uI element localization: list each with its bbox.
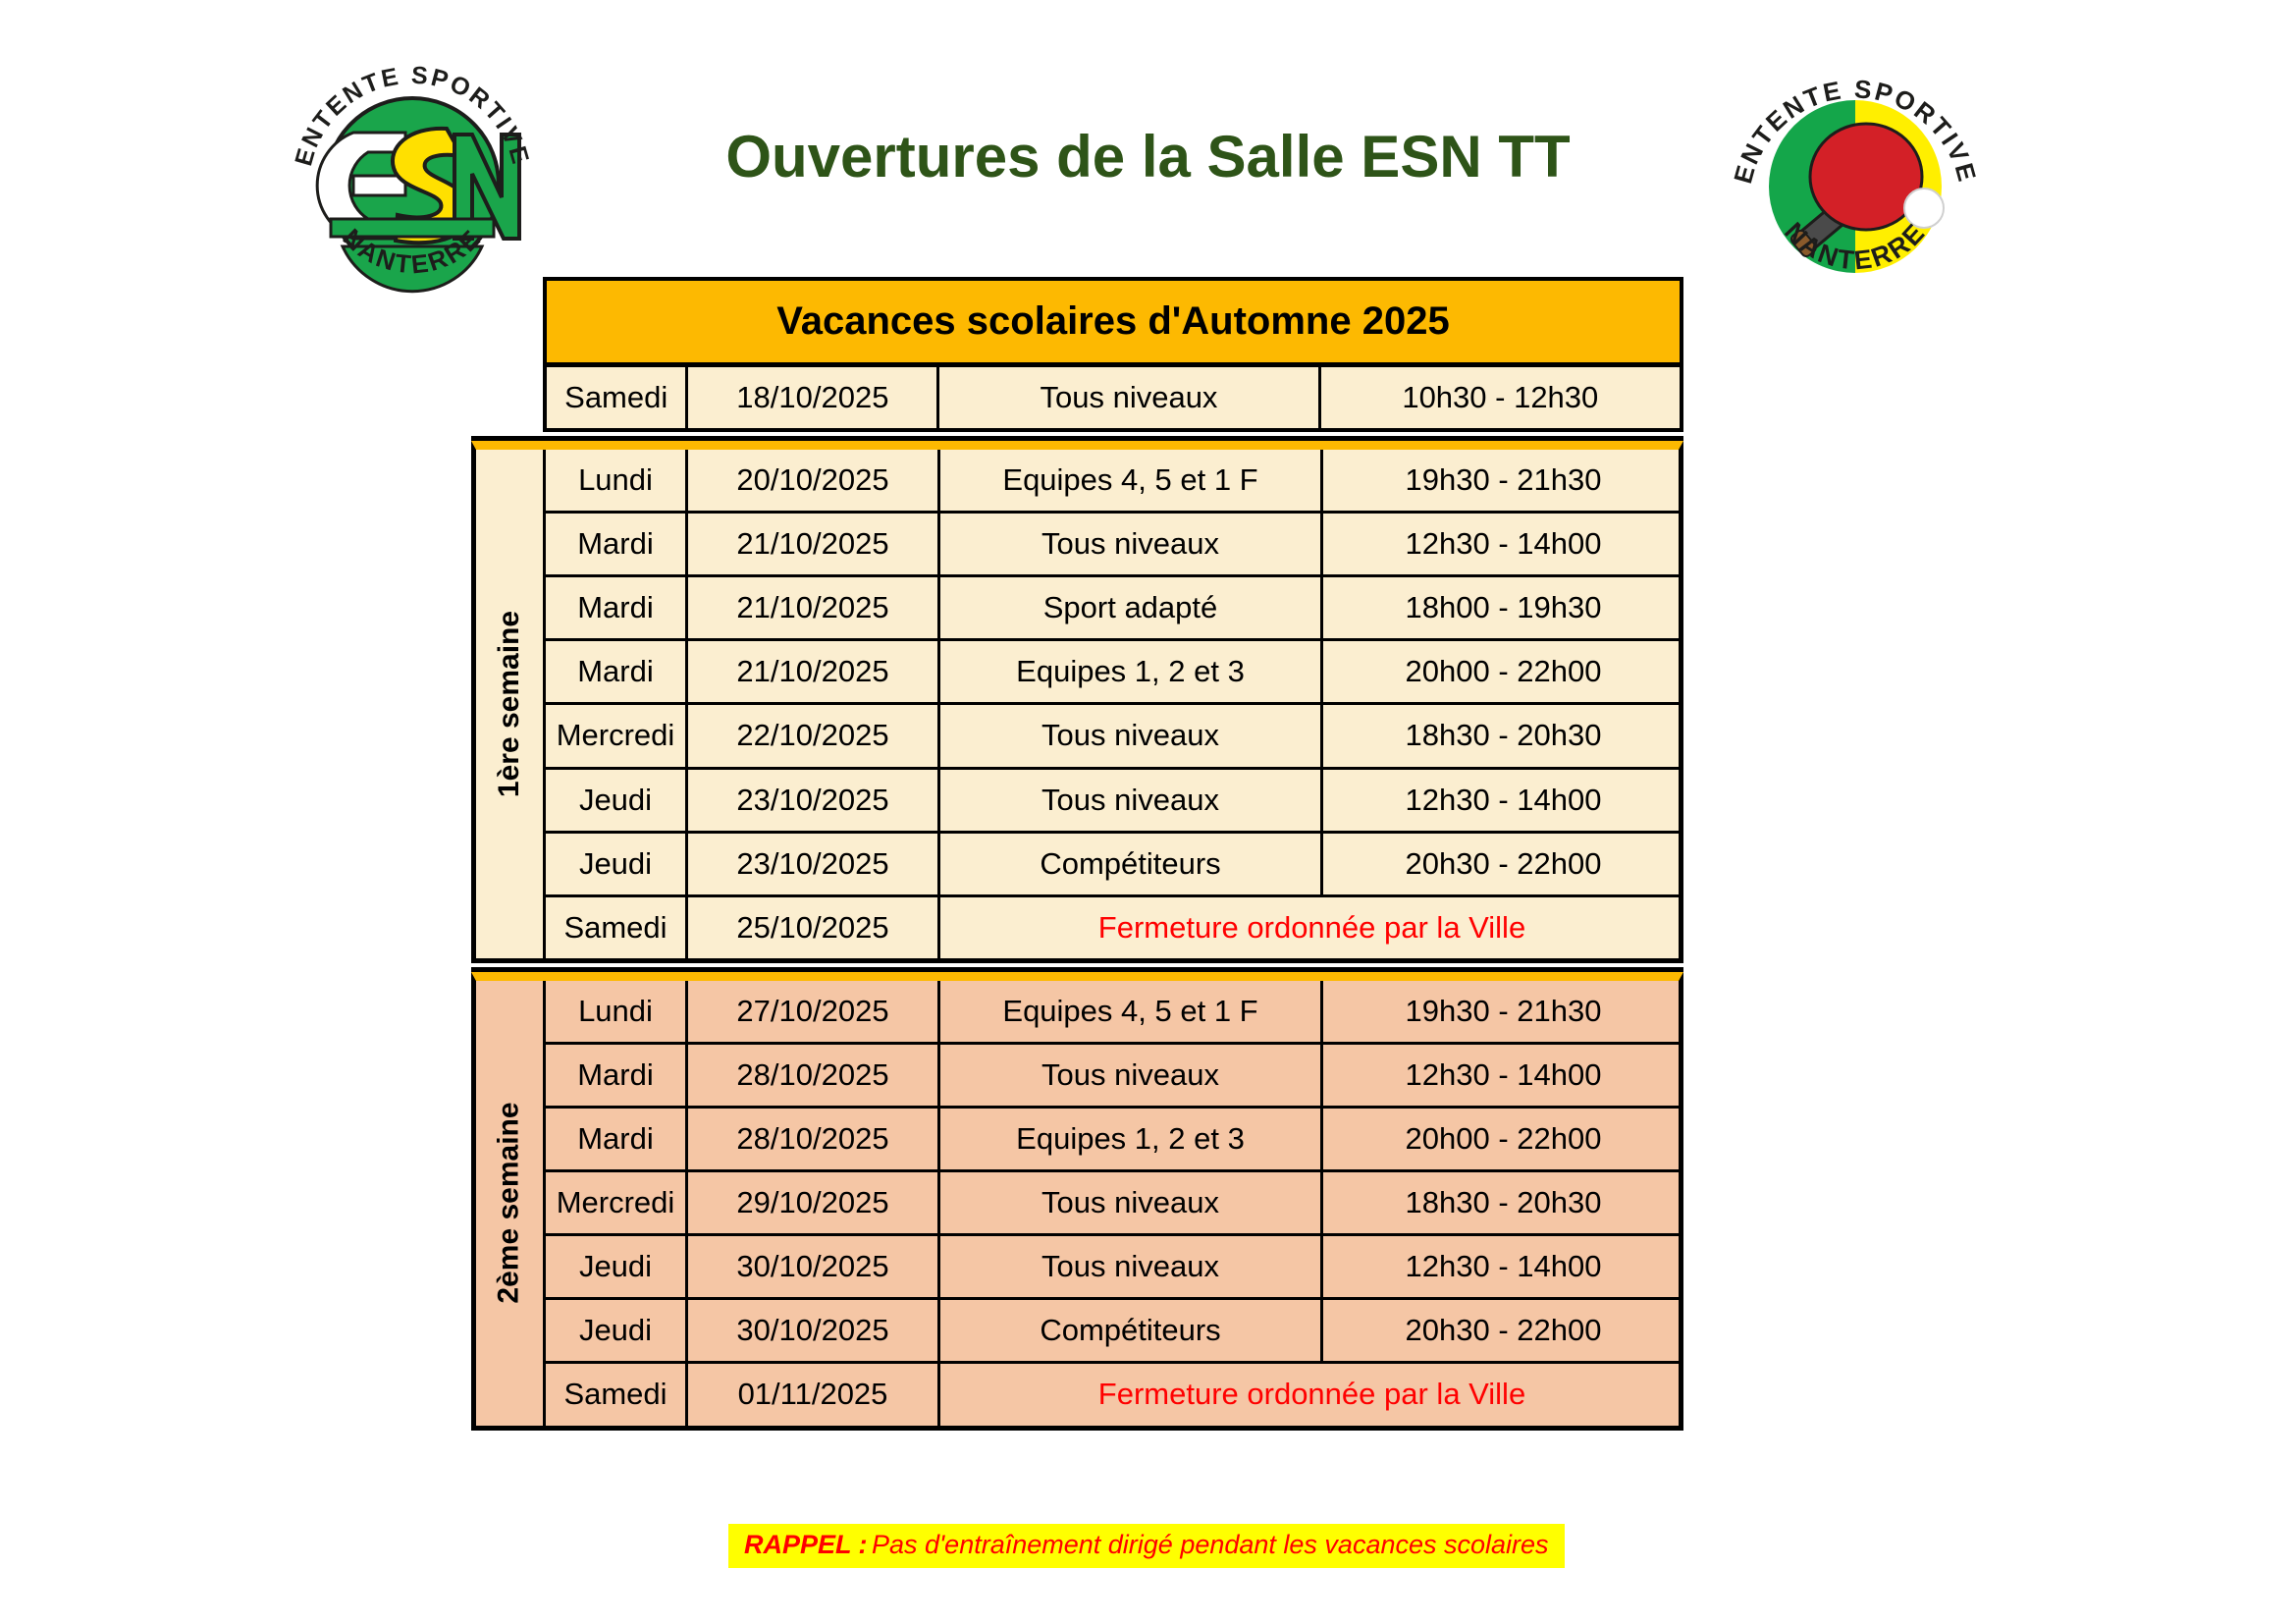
cell-activity: Equipes 1, 2 et 3 (940, 641, 1323, 702)
table-row: Samedi 18/10/2025 Tous niveaux 10h30 - 1… (543, 367, 1683, 432)
cell-day: Samedi (546, 897, 688, 958)
table-row: Mercredi 29/10/2025 Tous niveaux 18h30 -… (546, 1172, 1683, 1236)
cell-activity: Tous niveaux (940, 1045, 1323, 1106)
table-row: Jeudi 23/10/2025 Compétiteurs 20h30 - 22… (546, 834, 1683, 897)
cell-day: Samedi (546, 1364, 688, 1425)
cell-date: 30/10/2025 (688, 1236, 940, 1297)
cell-day: Mardi (546, 577, 688, 638)
week-2-rows: Lundi 27/10/2025 Equipes 4, 5 et 1 F 19h… (546, 981, 1683, 1426)
cell-time: 19h30 - 21h30 (1323, 981, 1683, 1042)
table-row: Lundi 27/10/2025 Equipes 4, 5 et 1 F 19h… (546, 981, 1683, 1045)
schedule-header-banner: Vacances scolaires d'Automne 2025 (543, 277, 1683, 367)
table-row: Jeudi 30/10/2025 Compétiteurs 20h30 - 22… (546, 1300, 1683, 1364)
cell-time: 19h30 - 21h30 (1323, 450, 1683, 511)
cell-closure-notice: Fermeture ordonnée par la Ville (940, 1364, 1683, 1425)
cell-day: Jeudi (546, 1300, 688, 1361)
cell-date: 01/11/2025 (688, 1364, 940, 1425)
cell-date: 23/10/2025 (688, 770, 940, 831)
cell-time: 18h00 - 19h30 (1323, 577, 1683, 638)
cell-time: 10h30 - 12h30 (1321, 367, 1680, 428)
cell-day: Mardi (546, 514, 688, 574)
table-row: Jeudi 23/10/2025 Tous niveaux 12h30 - 14… (546, 770, 1683, 834)
cell-date: 30/10/2025 (688, 1300, 940, 1361)
cell-day: Mercredi (546, 1172, 688, 1233)
cell-day: Lundi (546, 981, 688, 1042)
cell-time: 18h30 - 20h30 (1323, 1172, 1683, 1233)
cell-time: 20h30 - 22h00 (1323, 834, 1683, 894)
schedule-table: Vacances scolaires d'Automne 2025 Samedi… (471, 277, 1683, 1431)
week-label-1: 1ère semaine (476, 450, 546, 958)
cell-activity: Tous niveaux (940, 770, 1323, 831)
cell-activity: Compétiteurs (940, 1300, 1323, 1361)
cell-day: Mardi (546, 1045, 688, 1106)
cell-activity: Sport adapté (940, 577, 1323, 638)
cell-activity: Tous niveaux (940, 705, 1323, 766)
cell-day: Jeudi (546, 834, 688, 894)
cell-time: 12h30 - 14h00 (1323, 770, 1683, 831)
cell-activity: Tous niveaux (940, 514, 1323, 574)
reminder-banner: RAPPEL : Pas d'entraînement dirigé penda… (728, 1524, 1565, 1568)
cell-activity: Equipes 4, 5 et 1 F (940, 450, 1323, 511)
table-row: Mardi 21/10/2025 Equipes 1, 2 et 3 20h00… (546, 641, 1683, 705)
cell-activity: Tous niveaux (940, 1172, 1323, 1233)
table-row: Lundi 20/10/2025 Equipes 4, 5 et 1 F 19h… (546, 450, 1683, 514)
cell-activity: Tous niveaux (940, 1236, 1323, 1297)
cell-day: Jeudi (546, 1236, 688, 1297)
schedule-header-title: Vacances scolaires d'Automne 2025 (776, 299, 1449, 344)
cell-date: 28/10/2025 (688, 1109, 940, 1169)
cell-time: 20h00 - 22h00 (1323, 1109, 1683, 1169)
cell-date: 27/10/2025 (688, 981, 940, 1042)
reminder-label: RAPPEL : (744, 1530, 868, 1559)
cell-day: Lundi (546, 450, 688, 511)
cell-day: Mardi (546, 1109, 688, 1169)
cell-day: Mardi (546, 641, 688, 702)
cell-date: 25/10/2025 (688, 897, 940, 958)
cell-date: 18/10/2025 (688, 367, 939, 428)
table-row: Mardi 28/10/2025 Tous niveaux 12h30 - 14… (546, 1045, 1683, 1109)
cell-time: 12h30 - 14h00 (1323, 514, 1683, 574)
cell-date: 21/10/2025 (688, 514, 940, 574)
reminder-text: Pas d'entraînement dirigé pendant les va… (872, 1530, 1549, 1559)
cell-time: 12h30 - 14h00 (1323, 1236, 1683, 1297)
cell-closure-notice: Fermeture ordonnée par la Ville (940, 897, 1683, 958)
week-1-rows: Lundi 20/10/2025 Equipes 4, 5 et 1 F 19h… (546, 450, 1683, 958)
cell-time: 20h00 - 22h00 (1323, 641, 1683, 702)
cell-time: 18h30 - 20h30 (1323, 705, 1683, 766)
week-label-1-text: 1ère semaine (493, 611, 526, 797)
table-row: Samedi 25/10/2025 Fermeture ordonnée par… (546, 897, 1683, 958)
table-row: Jeudi 30/10/2025 Tous niveaux 12h30 - 14… (546, 1236, 1683, 1300)
cell-time: 12h30 - 14h00 (1323, 1045, 1683, 1106)
week-label-2-text: 2ème semaine (493, 1103, 526, 1304)
table-row: Mercredi 22/10/2025 Tous niveaux 18h30 -… (546, 705, 1683, 769)
cell-activity: Tous niveaux (939, 367, 1320, 428)
table-row: Mardi 21/10/2025 Sport adapté 18h00 - 19… (546, 577, 1683, 641)
cell-date: 21/10/2025 (688, 577, 940, 638)
cell-day: Mercredi (546, 705, 688, 766)
cell-time: 20h30 - 22h00 (1323, 1300, 1683, 1361)
cell-activity: Equipes 4, 5 et 1 F (940, 981, 1323, 1042)
week-block-2: 2ème semaine Lundi 27/10/2025 Equipes 4,… (471, 972, 1683, 1431)
week-block-1: 1ère semaine Lundi 20/10/2025 Equipes 4,… (471, 441, 1683, 963)
table-row: Mardi 28/10/2025 Equipes 1, 2 et 3 20h00… (546, 1109, 1683, 1172)
cell-day: Jeudi (546, 770, 688, 831)
cell-activity: Compétiteurs (940, 834, 1323, 894)
cell-date: 20/10/2025 (688, 450, 940, 511)
table-row: Samedi 01/11/2025 Fermeture ordonnée par… (546, 1364, 1683, 1425)
cell-date: 28/10/2025 (688, 1045, 940, 1106)
cell-date: 23/10/2025 (688, 834, 940, 894)
table-row: Mardi 21/10/2025 Tous niveaux 12h30 - 14… (546, 514, 1683, 577)
cell-day: Samedi (547, 367, 688, 428)
cell-date: 29/10/2025 (688, 1172, 940, 1233)
cell-activity: Equipes 1, 2 et 3 (940, 1109, 1323, 1169)
cell-date: 21/10/2025 (688, 641, 940, 702)
cell-date: 22/10/2025 (688, 705, 940, 766)
page-title: Ouvertures de la Salle ESN TT (0, 123, 2296, 190)
week-label-2: 2ème semaine (476, 981, 546, 1426)
